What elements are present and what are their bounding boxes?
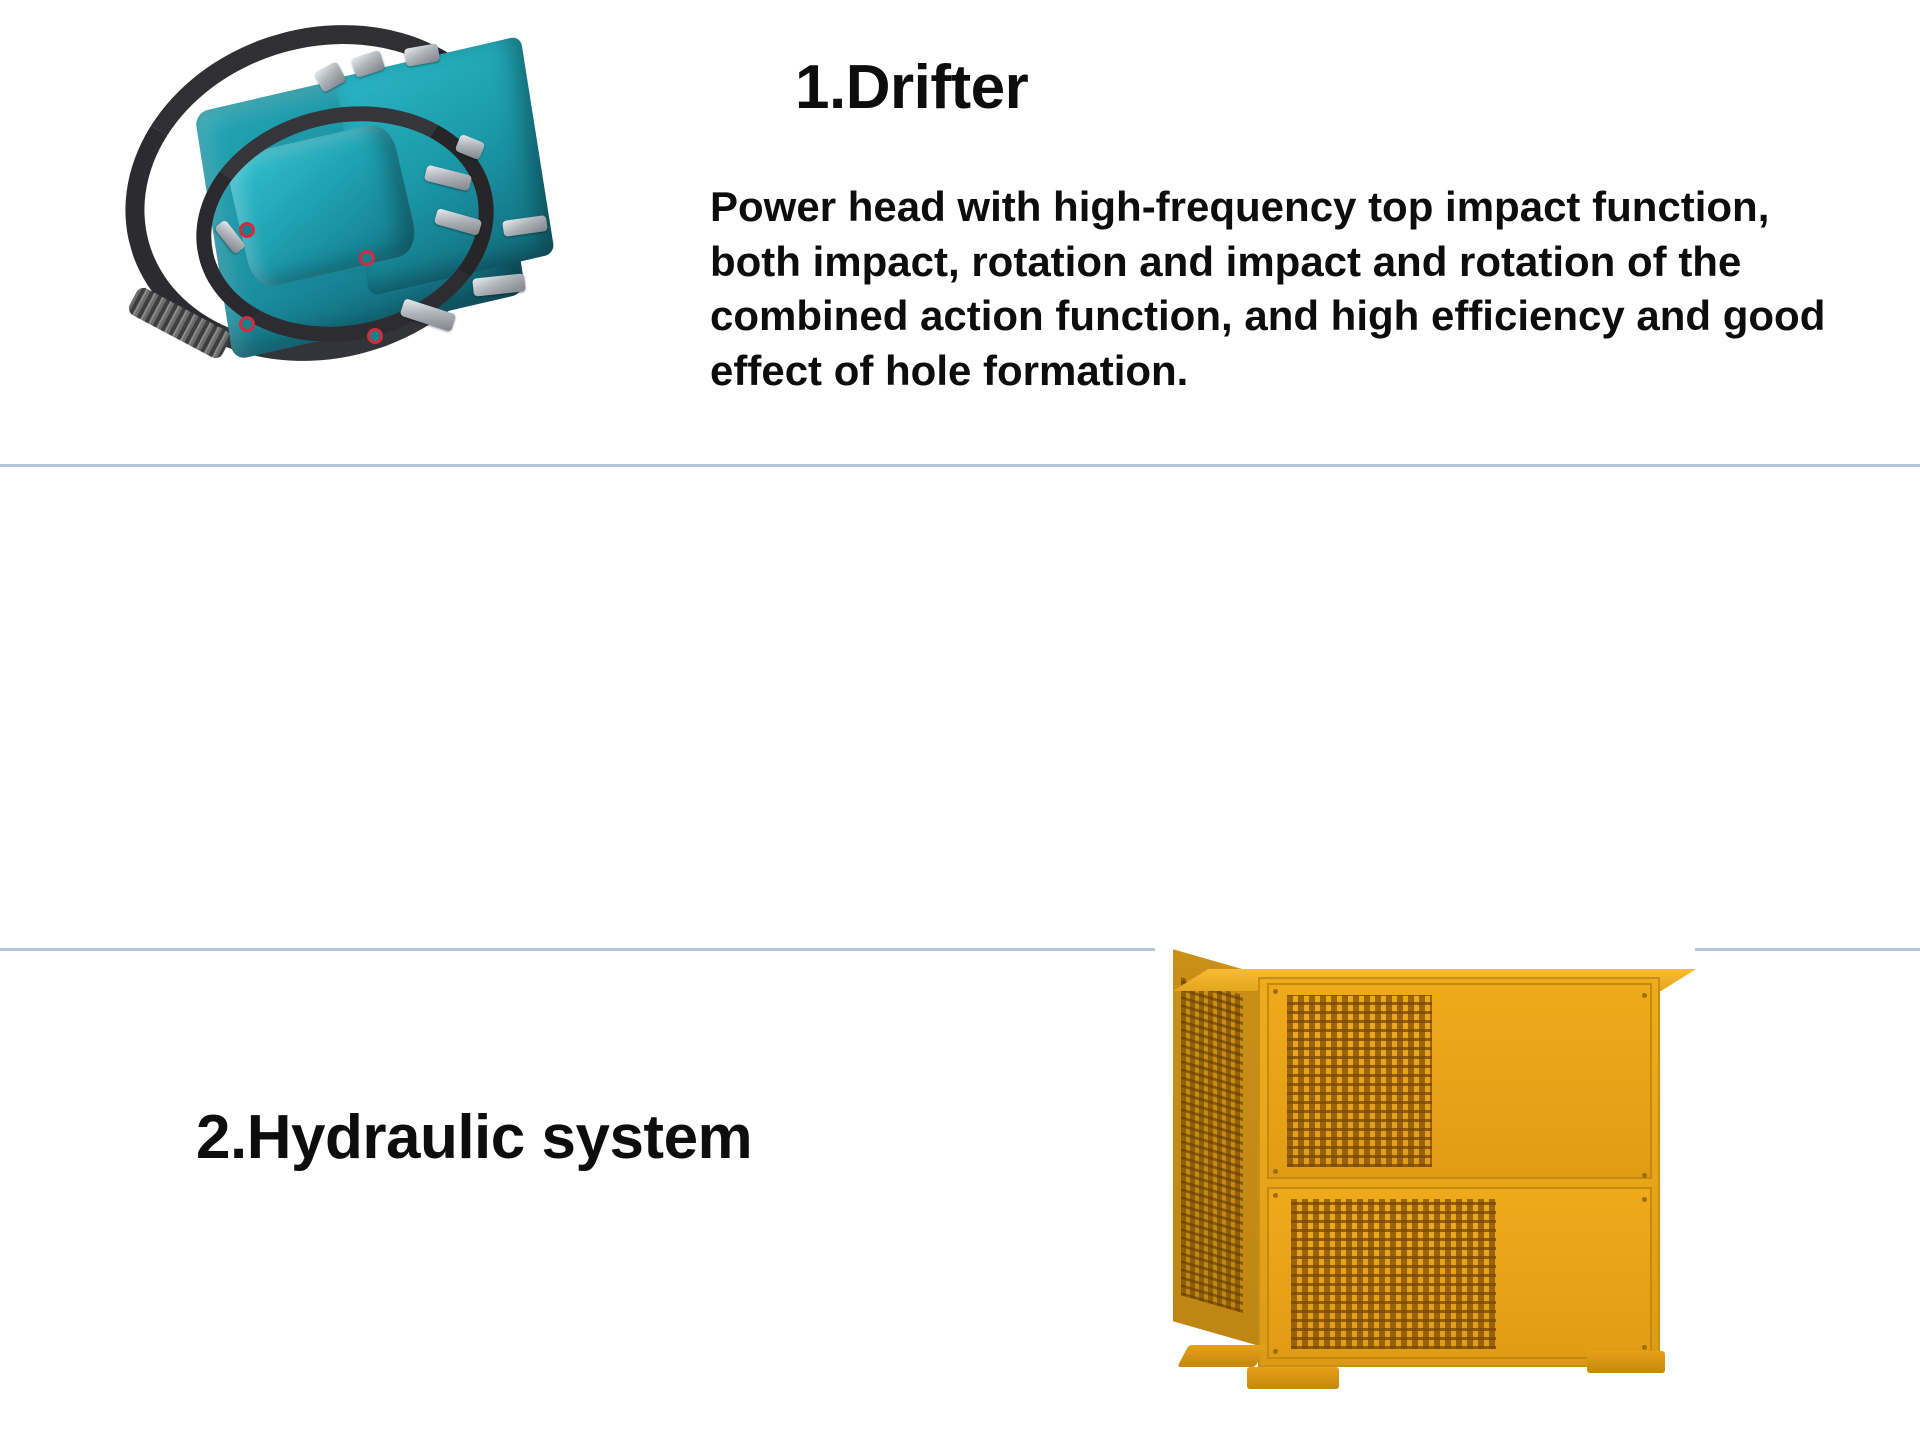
port-seal (359, 250, 375, 266)
section-remote-control: TECHWELL Steering Feed pres (0, 951, 1920, 1440)
port-seal (367, 328, 383, 344)
port-seal (239, 222, 255, 238)
port-seal (239, 316, 255, 332)
section-hydraulic-system: 2.Hydraulic system (0, 467, 1920, 948)
section-drifter: 1.Drifter Power head with high-frequency… (0, 0, 1920, 464)
slide-root: 1.Drifter Power head with high-frequency… (0, 0, 1920, 1440)
section-1-body-text: Power head with high-frequency top impac… (710, 180, 1850, 398)
section-1-heading: 1.Drifter (795, 52, 1028, 123)
drifter-photo (105, 18, 605, 438)
